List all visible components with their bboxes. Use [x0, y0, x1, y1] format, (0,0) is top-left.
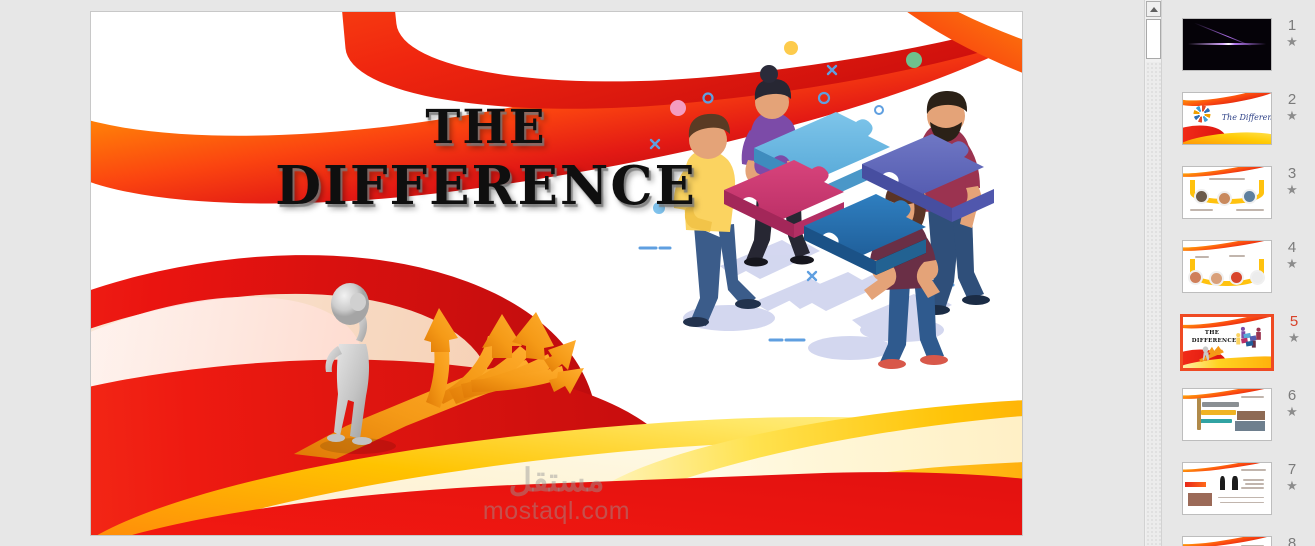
scroll-up-button[interactable] — [1146, 1, 1161, 17]
thumbnail-slide-3[interactable]: 3 ★ — [1163, 166, 1315, 219]
thumbnail-slide-5[interactable]: THE DIFFERENCE — [1163, 314, 1315, 371]
slide-number-7: 7 — [1288, 462, 1296, 478]
thumbnail-meta-7: 7 ★ — [1281, 462, 1303, 493]
animation-star-icon-5[interactable]: ★ — [1288, 331, 1300, 345]
thumbnail-image-8[interactable] — [1182, 536, 1272, 546]
slide-number-3: 3 — [1288, 166, 1296, 182]
slide-title-line-1: THE — [251, 100, 721, 155]
thumbnail-meta-5: 5 ★ — [1283, 314, 1305, 345]
thumbnail-image-5[interactable]: THE DIFFERENCE — [1180, 314, 1274, 371]
thumbnail-slide-8[interactable]: 8 ★ — [1163, 536, 1315, 546]
thumbnail-meta-2: 2 ★ — [1281, 92, 1303, 123]
current-slide[interactable]: THE DIFFERENCE — [90, 11, 1023, 536]
slide-number-1: 1 — [1288, 18, 1296, 34]
slide-number-6: 6 — [1288, 388, 1296, 404]
animation-star-icon-3[interactable]: ★ — [1286, 183, 1298, 197]
slide-canvas[interactable]: THE DIFFERENCE — [0, 0, 1140, 546]
slide-title[interactable]: THE DIFFERENCE — [251, 100, 721, 218]
animation-star-icon-1[interactable]: ★ — [1286, 35, 1298, 49]
animation-star-icon-2[interactable]: ★ — [1286, 109, 1298, 123]
thumbnail-slide-6[interactable]: 6 ★ — [1163, 388, 1315, 441]
thumbnail-meta-8: 8 ★ — [1281, 536, 1303, 546]
thumbnail-pane-scrollbar[interactable] — [1144, 0, 1162, 546]
thumbnail-image-6[interactable] — [1182, 388, 1272, 441]
thinking-stick-figure-with-arrows-image[interactable] — [286, 254, 586, 464]
thumbnail-meta-4: 4 ★ — [1281, 240, 1303, 271]
thumbnail-meta-1: 1 ★ — [1281, 18, 1303, 49]
chevron-up-icon — [1150, 7, 1158, 12]
slide-number-4: 4 — [1288, 240, 1296, 256]
slide-number-8: 8 — [1288, 536, 1296, 546]
ribbon-bottom-yellow-band — [649, 452, 1023, 536]
thumbnail-image-1[interactable] — [1182, 18, 1272, 71]
thumbnail-image-4[interactable] — [1182, 240, 1272, 293]
thumbnail-image-7[interactable] — [1182, 462, 1272, 515]
ribbon-bottom-red — [90, 461, 1023, 536]
slide-number-5: 5 — [1290, 314, 1298, 330]
slide-thumbnail-pane[interactable]: 1 ★ The Difference 2 ★ — [1163, 0, 1315, 546]
scrollbar-thumb[interactable] — [1146, 19, 1161, 59]
scrollbar-track[interactable] — [1146, 62, 1161, 546]
watermark: مستقل mostaql.com — [483, 464, 630, 525]
animation-star-icon-7[interactable]: ★ — [1286, 479, 1298, 493]
animation-star-icon-6[interactable]: ★ — [1286, 405, 1298, 419]
slide-number-2: 2 — [1288, 92, 1296, 108]
thumbnail-meta-3: 3 ★ — [1281, 166, 1303, 197]
slide-title-line-2: DIFFERENCE — [251, 155, 721, 218]
ribbon-bottom-yellow-right — [567, 389, 1023, 536]
animation-star-icon-4[interactable]: ★ — [1286, 257, 1298, 271]
thumbnail-image-3[interactable] — [1182, 166, 1272, 219]
thumbnail-slide-4[interactable]: 4 ★ — [1163, 240, 1315, 293]
thumbnail-meta-6: 6 ★ — [1281, 388, 1303, 419]
thumbnail-slide-7[interactable]: 7 ★ — [1163, 462, 1315, 515]
thumbnail-2-caption: The Difference — [1222, 113, 1264, 122]
thumbnail-slide-2[interactable]: The Difference 2 ★ — [1163, 92, 1315, 145]
thumbnail-slide-1[interactable]: 1 ★ — [1163, 18, 1315, 71]
powerpoint-window: THE DIFFERENCE — [0, 0, 1315, 546]
ribbon-bottom-white-cut — [556, 399, 1023, 536]
watermark-latin: mostaql.com — [483, 498, 630, 526]
thumbnail-image-2[interactable]: The Difference — [1182, 92, 1272, 145]
watermark-arabic: مستقل — [483, 464, 630, 498]
